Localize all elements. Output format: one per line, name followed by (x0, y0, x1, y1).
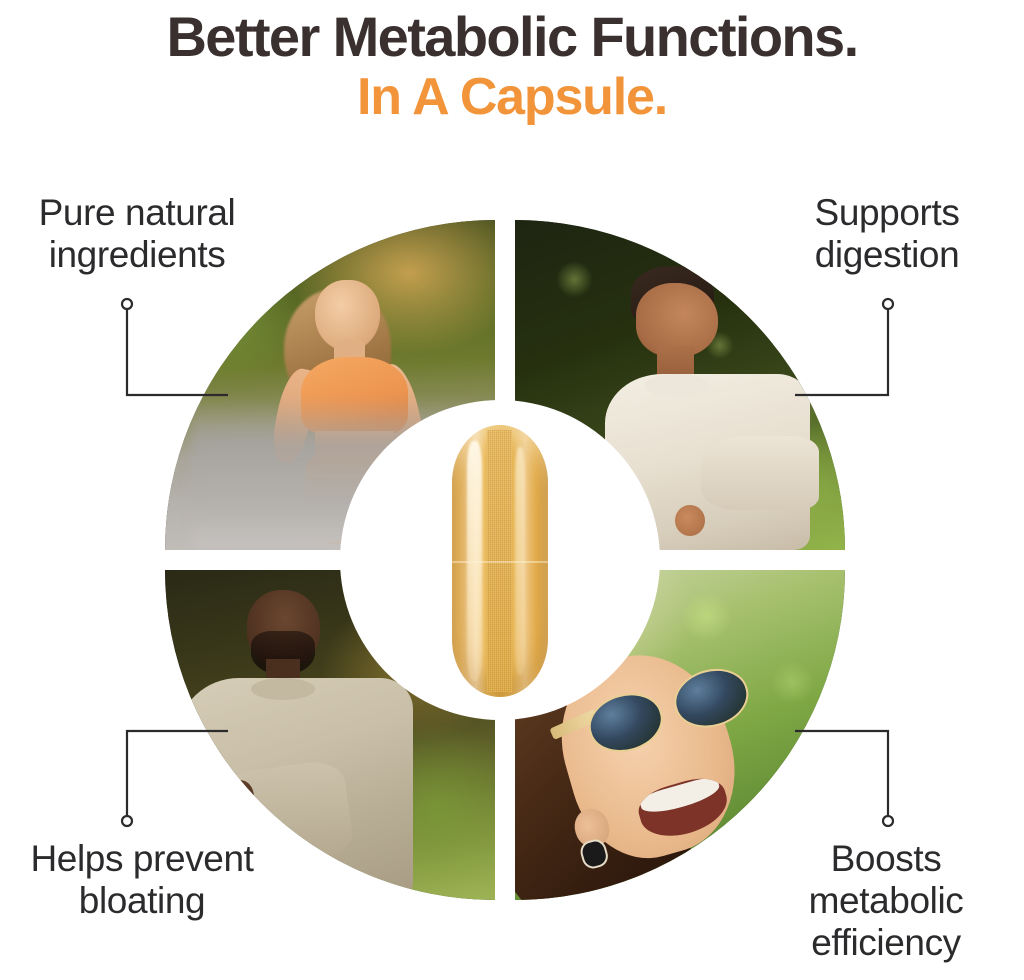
hand-shape (675, 505, 705, 536)
headline-accent: In A Capsule. (0, 71, 1024, 124)
sports-top-shape (301, 357, 407, 436)
benefit-label-supports-digestion: Supports digestion (756, 192, 1018, 276)
connector-endpoint-dot (883, 299, 893, 309)
connector-top-left (110, 295, 230, 410)
connector-endpoint-dot (883, 816, 893, 826)
connector-path (795, 731, 888, 818)
connector-path (127, 307, 228, 395)
connector-endpoint-dot (122, 816, 132, 826)
headline-block: Better Metabolic Functions. In A Capsule… (0, 8, 1024, 124)
connector-top-right (795, 295, 915, 410)
connector-bottom-left (110, 720, 230, 835)
connector-path (795, 307, 888, 395)
benefit-label-helps-prevent-bloating: Helps prevent bloating (0, 838, 284, 922)
connector-bottom-right (795, 720, 915, 835)
connector-path (127, 731, 228, 818)
arm-shape (701, 436, 819, 510)
capsule-product-image (452, 425, 548, 697)
benefit-label-boosts-metabolic-efficiency: Boosts metabolic efficiency (748, 838, 1024, 965)
benefit-label-pure-natural-ingredients: Pure natural ingredients (6, 192, 268, 276)
benefit-circle-composition (165, 220, 845, 900)
headline-primary: Better Metabolic Functions. (0, 8, 1024, 65)
connector-endpoint-dot (122, 299, 132, 309)
collar-shape (644, 374, 709, 397)
capsule-seam-line (452, 561, 548, 563)
